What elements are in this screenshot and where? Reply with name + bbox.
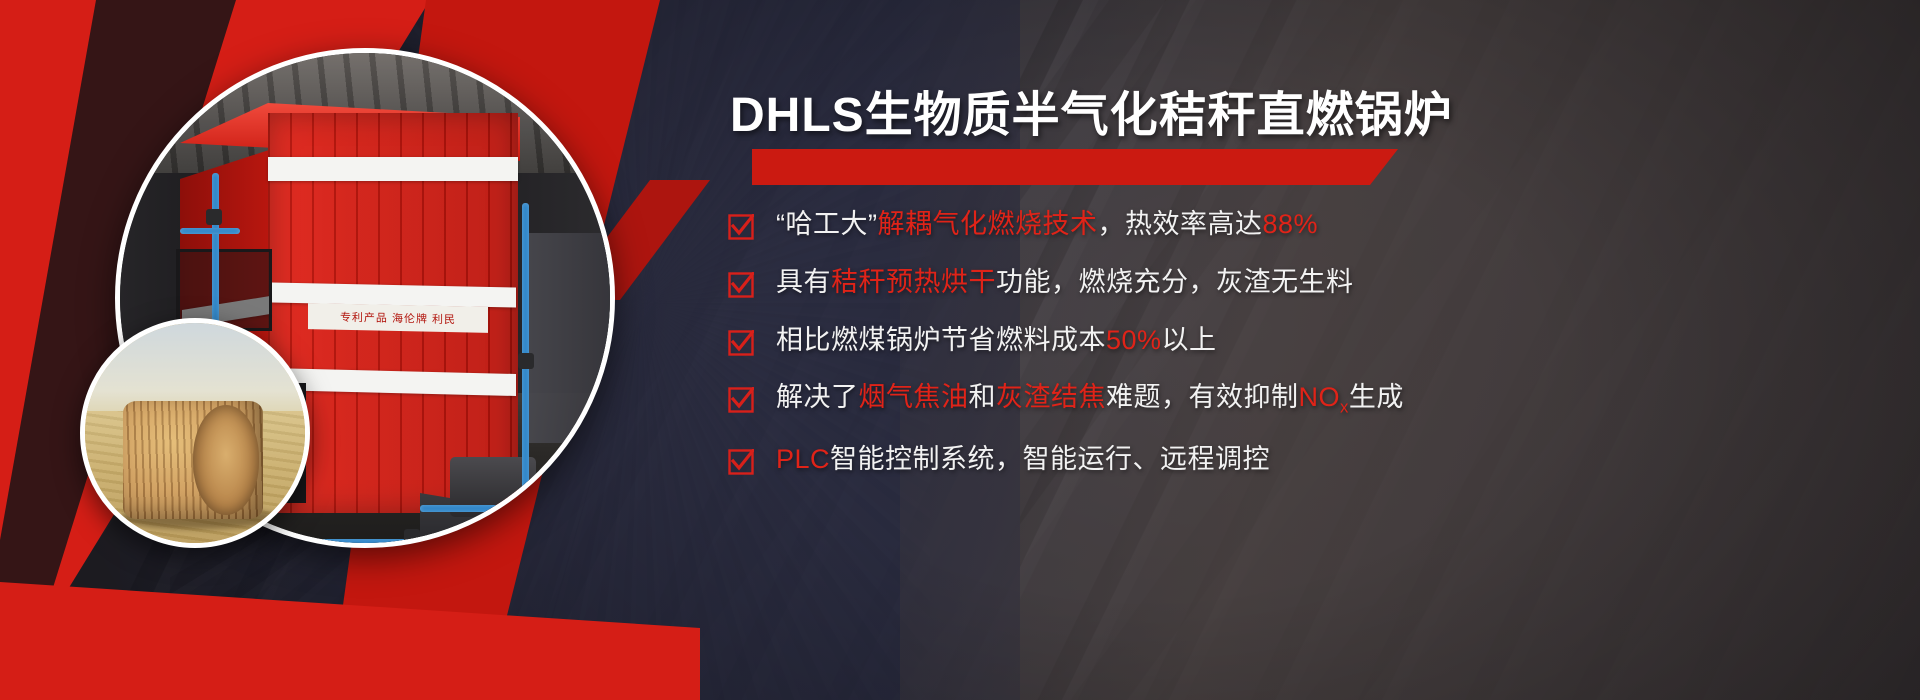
feature-text-plain: 难题，有效抑制 [1106,382,1299,412]
pipe-valve [206,209,222,225]
feature-list: “哈工大”解耦气化燃烧技术，热效率高达88%具有秸秆预热烘干功能，燃烧充分，灰渣… [728,208,1888,500]
title-underline-bar [752,149,1398,185]
feature-text: 具有秸秆预热烘干功能，燃烧充分，灰渣无生料 [776,266,1354,300]
feature-text-highlight: NOx [1299,382,1349,412]
checkbox-checked-icon [728,449,754,475]
feature-text-highlight: 50% [1106,325,1162,355]
blue-pipe [180,228,240,234]
feature-text-plain: ，热效率高达 [1097,209,1262,239]
pipe-valve [518,353,534,369]
feature-text: 相比燃煤锅炉节省燃料成本50%以上 [776,324,1217,358]
feature-item: 解决了烟气焦油和灰渣结焦难题，有效抑制NOx生成 [728,381,1888,418]
feature-text-highlight: 秸秆预热烘干 [831,267,996,297]
feature-item: 具有秸秆预热烘干功能，燃烧充分，灰渣无生料 [728,266,1888,300]
feature-item: PLC智能控制系统，智能运行、远程调控 [728,443,1888,477]
straw-bale-end-face [193,405,259,515]
feature-text-plain: 生成 [1349,382,1404,412]
feature-text: 解决了烟气焦油和灰渣结焦难题，有效抑制NOx生成 [776,381,1404,418]
page-title: DHLS生物质半气化秸秆直燃锅炉 [730,92,1453,140]
feature-text-plain: 功能，燃烧充分，灰渣无生料 [996,267,1354,297]
checkbox-checked-icon [728,330,754,356]
checkbox-checked-icon [728,387,754,413]
banner-content: DHLS生物质半气化秸秆直燃锅炉 “哈工大”解耦气化燃烧技术，热效率高达88%具… [718,0,1908,700]
feature-text-plain: 具有 [776,267,831,297]
checkbox-checked-icon [728,214,754,240]
product-banner: 专利产品 海伦牌 利民 DHLS生物质半气化秸秆直燃锅炉 [0,0,1920,700]
feature-text-plain: “哈工大” [776,209,877,239]
checkbox-checked-icon [728,272,754,298]
title-block: DHLS生物质半气化秸秆直燃锅炉 [730,92,1453,140]
feature-text-plain: 相比燃煤锅炉节省燃料成本 [776,325,1106,355]
feature-item: “哈工大”解耦气化燃烧技术，热效率高达88% [728,208,1888,242]
feature-text-highlight: 灰渣结焦 [996,382,1106,412]
pipe-valve [404,529,420,545]
feature-text: PLC智能控制系统，智能运行、远程调控 [776,443,1270,477]
straw-bale-photo [80,318,310,548]
feature-text-plain: 以上 [1162,325,1217,355]
boiler-white-band [268,157,518,181]
boiler-nameplate: 专利产品 海伦牌 利民 [308,303,488,333]
feature-text-highlight: 烟气焦油 [859,382,969,412]
feature-text-plain: 解决了 [776,382,859,412]
feature-text-highlight: PLC [776,444,830,474]
photo-grey-panel [524,233,615,443]
feature-item: 相比燃煤锅炉节省燃料成本50%以上 [728,324,1888,358]
feature-text-plain: 智能控制系统，智能运行、远程调控 [830,444,1270,474]
feature-text: “哈工大”解耦气化燃烧技术，热效率高达88% [776,208,1318,242]
feature-text-plain: 和 [969,382,997,412]
feature-text-highlight: 解耦气化燃烧技术 [877,209,1097,239]
blue-pipe [420,505,570,512]
feature-text-highlight: 88% [1262,209,1318,239]
